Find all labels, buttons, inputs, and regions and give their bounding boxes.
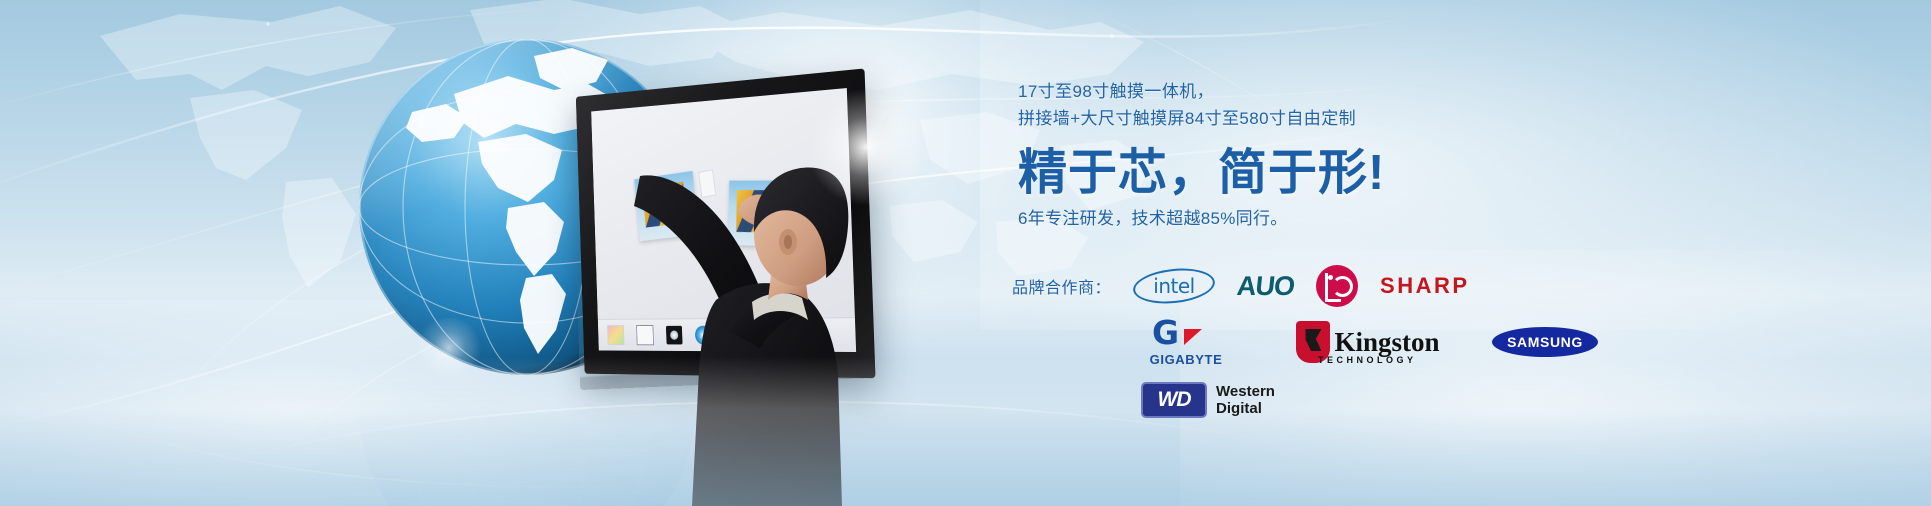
partners-label: 品牌合作商： (1012, 274, 1111, 298)
gigabyte-logo-text: GIGABYTE (1128, 352, 1244, 367)
kingston-logo-text: Kingston (1334, 329, 1439, 356)
wd-badge-icon: WD (1141, 382, 1207, 418)
auo-logo-text: AUO (1235, 271, 1295, 302)
subline: 6年专注研发，技术超越85%同行。 (1018, 206, 1578, 232)
wd-logo-text: Western Digital (1216, 383, 1275, 417)
marketing-copy: 17寸至98寸触摸一体机， 拼接墙+大尺寸触摸屏84寸至580寸自由定制 精于芯… (1018, 78, 1578, 232)
intel-logo: intel (1133, 269, 1215, 303)
bottom-haze (0, 356, 1931, 506)
lg-dot-icon (1328, 275, 1333, 280)
kingston-logo-subtext: TECHNOLOGY (1318, 355, 1417, 365)
man-touching-screen (620, 150, 850, 506)
lg-logo (1316, 265, 1358, 307)
copy-line-1: 17寸至98寸触摸一体机， (1018, 78, 1578, 105)
promo-banner: 17寸至98寸触摸一体机， 拼接墙+大尺寸触摸屏84寸至580寸自由定制 精于芯… (0, 0, 1931, 506)
gigabyte-logo: G GIGABYTE (1128, 317, 1244, 367)
samsung-logo: SAMSUNG (1492, 327, 1598, 357)
wd-logo-line-1: Western (1216, 383, 1275, 400)
partner-logos: 品牌合作商： intel AUO SHARP G GIGABYTE Kings (1012, 265, 1632, 433)
partner-row-1: 品牌合作商： intel AUO SHARP (1012, 265, 1632, 307)
sharp-logo: SHARP (1380, 273, 1470, 299)
auo-logo: AUO (1237, 271, 1294, 302)
partner-row-2: G GIGABYTE Kingston TECHNOLOGY SAMSUNG (1012, 317, 1632, 367)
gigabyte-triangle-icon (1184, 329, 1202, 345)
wd-logo-line-2: Digital (1216, 400, 1275, 417)
intel-logo-text: intel (1133, 269, 1215, 303)
headline: 精于芯，简于形! (1018, 144, 1578, 202)
copy-line-2: 拼接墙+大尺寸触摸屏84寸至580寸自由定制 (1018, 105, 1578, 132)
orbit-light-streaks (0, 0, 1931, 506)
partner-row-3: WD Western Digital (1012, 377, 1632, 423)
kingston-logo: Kingston TECHNOLOGY (1278, 318, 1458, 366)
western-digital-logo: WD Western Digital (1128, 377, 1288, 423)
